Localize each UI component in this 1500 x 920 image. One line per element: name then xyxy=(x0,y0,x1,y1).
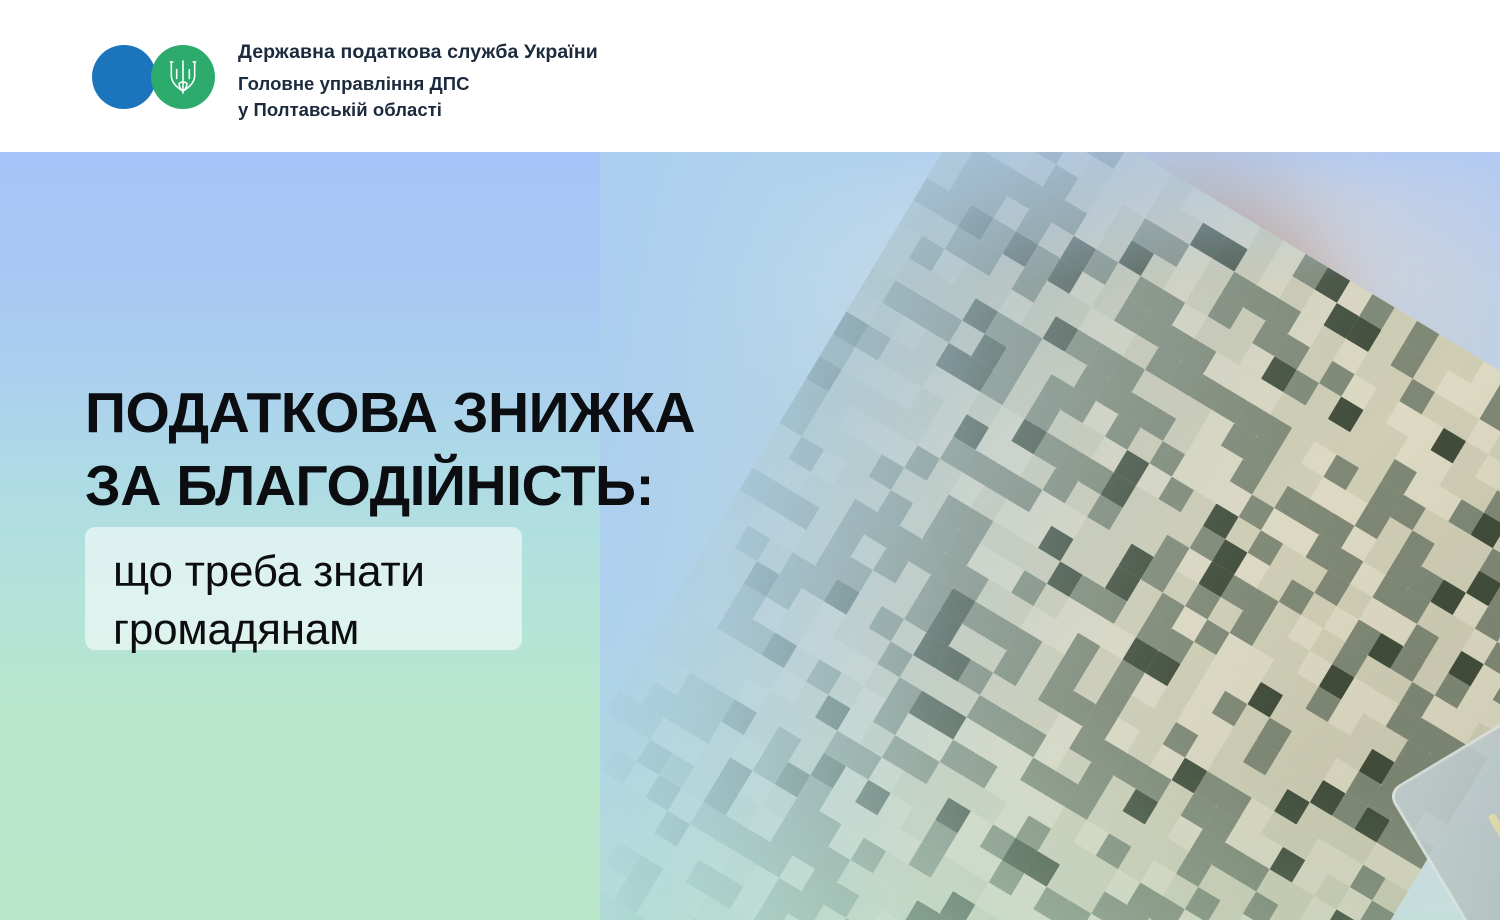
subtitle-line-1: що треба знати xyxy=(113,543,522,601)
subtitle-line-2: громадянам xyxy=(113,601,522,659)
subtitle-box: що треба знати громадянам xyxy=(85,527,522,650)
logo-blue-circle-icon xyxy=(92,45,156,109)
page-title: ПОДАТКОВА ЗНИЖКА ЗА БЛАГОДІЙНІСТЬ: xyxy=(85,377,805,523)
headline-line-2: ЗА БЛАГОДІЙНІСТЬ: xyxy=(85,450,805,523)
agency-name-line-1: Державна податкова служба України xyxy=(238,40,598,65)
agency-name-line-3: у Полтавській області xyxy=(238,97,598,123)
agency-logo xyxy=(92,40,232,112)
header-bar: Державна податкова служба України Головн… xyxy=(0,0,1500,152)
agency-name-line-2: Головне управління ДПС xyxy=(238,71,598,97)
headline-line-1: ПОДАТКОВА ЗНИЖКА xyxy=(85,377,805,450)
photo-inner xyxy=(600,152,1500,920)
soldier-photo xyxy=(600,152,1500,920)
brand-block: Державна податкова служба України Головн… xyxy=(92,40,598,122)
poster-canvas: ПОДАТКОВА ЗНИЖКА ЗА БЛАГОДІЙНІСТЬ: що тр… xyxy=(0,0,1500,920)
hero-body: ПОДАТКОВА ЗНИЖКА ЗА БЛАГОДІЙНІСТЬ: що тр… xyxy=(0,152,1500,920)
agency-name-block: Державна податкова служба України Головн… xyxy=(238,40,598,122)
ukraine-tryzub-icon xyxy=(167,59,199,95)
